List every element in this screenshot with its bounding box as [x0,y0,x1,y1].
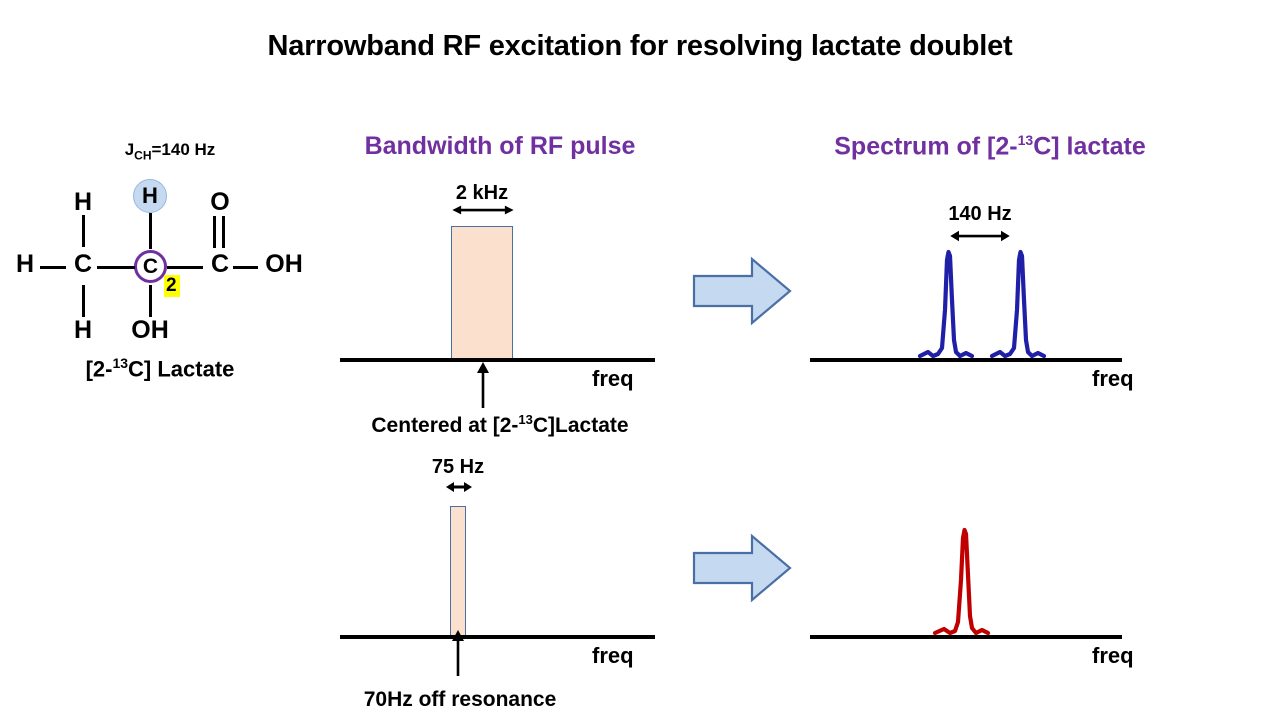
doublet-splitting-label: 140 Hz [930,203,1030,226]
bond-h-left-to-c [40,266,66,269]
circled-hydrogen: H [133,179,167,213]
bond-c-to-o-double-b [222,216,225,248]
atom-c-right: C [205,252,235,277]
molecule-caption-pre: [2- [86,356,113,381]
rf-pulse-rect-narrow [450,506,466,637]
j-coupling-label: JCH=140 Hz [60,140,280,162]
bond-c-to-o-double-a [213,216,216,248]
pulse-center-caption-pre: Centered at [2- [371,414,518,437]
bond-c-left-to-h-top [82,215,85,247]
molecule-caption-post: C] Lactate [128,356,234,381]
bandwidth-double-arrow-bottom [446,480,472,494]
frequency-axis-bottom-right [810,635,1122,639]
bond-c-left-to-c-center [97,266,135,269]
page-title: Narrowband RF excitation for resolving l… [0,30,1280,63]
atom-h-top-left: H [68,190,98,215]
atom-h-bottom-left: H [68,318,98,343]
spectrum-header-pre: Spectrum of [2- [834,132,1017,160]
slide-canvas: Narrowband RF excitation for resolving l… [0,0,1280,720]
carbon-position-label: 2 [164,275,180,297]
atom-oh-right: OH [258,252,310,277]
pulse-center-caption-post: C]Lactate [533,414,629,437]
freq-label-bottom-right: freq [1092,643,1134,669]
atom-c-center: C [137,253,164,280]
atom-oh-bottom: OH [124,318,176,343]
flow-arrow-bottom [692,533,792,603]
bond-c-right-to-oh [233,266,258,269]
frequency-axis-bottom-left [340,635,655,639]
bandwidth-double-arrow-top [448,203,518,217]
rf-pulse-rect-broad [451,226,513,360]
atom-h-circled: H [134,180,166,211]
j-coupling-symbol: J [125,140,134,159]
lactate-doublet-spectrum [900,240,1100,362]
freq-label-bottom-left: freq [592,643,634,669]
spectrum-header-post: C] lactate [1033,132,1146,160]
pulse-bandwidth-label-bottom: 75 Hz [408,456,508,479]
j-coupling-subscript: CH [134,148,151,162]
j-coupling-value: =140 Hz [152,140,216,159]
circled-carbon-13: C [134,250,167,283]
flow-arrow-top [692,256,792,326]
column-header-bandwidth: Bandwidth of RF pulse [340,132,660,161]
bond-c-center-to-h-circled [149,213,152,249]
column-header-spectrum: Spectrum of [2-13C] lactate [790,132,1190,161]
off-resonance-caption: 70Hz off resonance [300,688,620,712]
pulse-center-caption-top: Centered at [2-13C]Lactate [340,412,660,438]
bond-c-center-to-c-right [167,266,203,269]
bond-c-center-to-oh [149,285,152,317]
atom-o-double: O [205,190,235,215]
pulse-center-caption-superscript: 13 [518,412,532,427]
off-resonance-pointer-arrow [450,630,466,676]
freq-label-top-right: freq [1092,366,1134,392]
molecule-caption: [2-13C] Lactate [20,355,300,382]
spectrum-header-superscript: 13 [1018,132,1034,148]
freq-label-top-left: freq [592,366,634,392]
atom-h-left: H [10,252,40,277]
frequency-axis-top-left [340,358,655,362]
center-pointer-arrow-top [475,362,491,408]
frequency-axis-top-right [810,358,1122,362]
pulse-bandwidth-label-top: 2 kHz [432,182,532,205]
molecule-caption-superscript: 13 [112,355,128,371]
lactate-singlet-spectrum [900,520,1100,638]
atom-c-left: C [68,252,98,277]
bond-c-left-to-h-bottom [82,285,85,317]
